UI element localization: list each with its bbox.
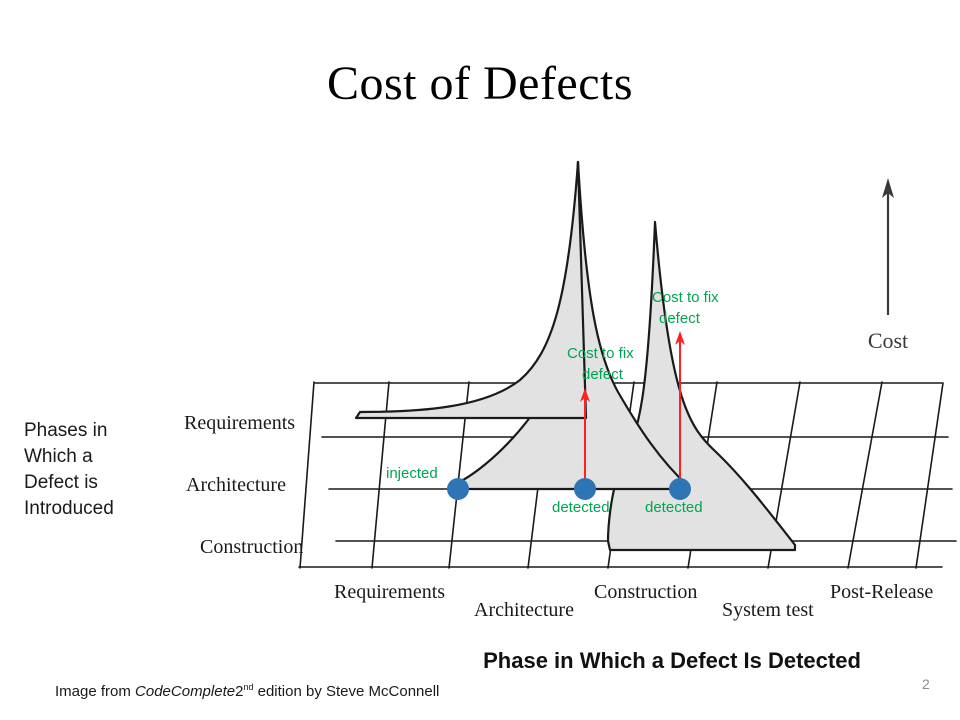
- ribbon-construction-surface: [608, 222, 795, 550]
- grid-col-line-4: [528, 382, 551, 568]
- page-number: 2: [922, 676, 930, 692]
- cost-arrow-1-head-icon: [580, 388, 590, 402]
- annotation-cost-to-fix-2-line2: defect: [659, 310, 701, 327]
- cost-axis: Cost: [868, 178, 908, 353]
- base-grid: [299, 382, 956, 568]
- marker-dot-detected-1: [574, 478, 596, 500]
- horizontal-axis-ticks: Requirements Architecture Construction S…: [334, 581, 933, 621]
- grid-col-line-9: [916, 383, 943, 568]
- grid-col-line-3: [449, 382, 469, 568]
- footer-edition-suffix: nd: [243, 682, 253, 692]
- page-title: Cost of Defects: [0, 58, 960, 111]
- annotation-cost-to-fix-2-line1: Cost to fix: [652, 289, 719, 306]
- footer-edition-rest: edition by Steve McConnell: [253, 683, 439, 700]
- grid-col-line-1: [300, 382, 314, 568]
- x-tick-requirements: Requirements: [334, 581, 445, 603]
- marker-dot-injected: [447, 478, 469, 500]
- footer-credit: Image from CodeComplete2nd edition by St…: [55, 682, 439, 700]
- depth-axis-title: Phases in Which a Defect is Introduced: [24, 418, 184, 522]
- up-arrow-icon: [882, 178, 894, 198]
- slide-root: Cost of Defects Phases in Which a Defect…: [0, 0, 960, 720]
- depth-axis-ticks: Requirements Architecture Construction: [184, 412, 303, 558]
- grid-col-line-6: [688, 382, 717, 568]
- x-tick-post-release: Post-Release: [830, 581, 933, 603]
- cost-to-fix-arrows: [580, 331, 685, 489]
- footer-book-title: CodeComplete: [135, 683, 235, 700]
- marker-dot-detected-2: [669, 478, 691, 500]
- defect-markers: [447, 478, 691, 500]
- annotation-cost-to-fix-1-line2: defect: [582, 366, 624, 383]
- cost-ribbon-construction: [608, 222, 795, 550]
- grid-col-line-7: [768, 382, 800, 568]
- footer-prefix: Image from: [55, 683, 135, 700]
- x-tick-architecture: Architecture: [474, 599, 574, 621]
- depth-tick-construction: Construction: [200, 536, 303, 558]
- x-tick-construction: Construction: [594, 581, 697, 603]
- green-annotations: injected detected detected Cost to fix d…: [386, 289, 719, 516]
- annotation-detected-2: detected: [645, 499, 703, 516]
- grid-col-line-8: [848, 382, 882, 568]
- x-axis-title: Phase in Which a Defect Is Detected: [483, 648, 861, 673]
- grid-col-line-2: [372, 382, 389, 568]
- annotation-cost-to-fix-1-line1: Cost to fix: [567, 345, 634, 362]
- annotation-detected-1: detected: [552, 499, 610, 516]
- cost-ribbon-requirements: [356, 162, 586, 418]
- annotation-injected: injected: [386, 465, 438, 482]
- grid-col-line-5: [608, 382, 634, 568]
- cost-ribbon-architecture: [453, 162, 688, 489]
- depth-tick-requirements: Requirements: [184, 412, 295, 434]
- cost-arrow-2-head-icon: [675, 331, 685, 345]
- ribbon-architecture-surface: [453, 162, 688, 489]
- depth-tick-architecture: Architecture: [186, 474, 286, 496]
- ribbon-requirements-surface: [356, 162, 586, 418]
- x-tick-system-test: System test: [722, 599, 814, 621]
- cost-axis-label: Cost: [868, 328, 908, 353]
